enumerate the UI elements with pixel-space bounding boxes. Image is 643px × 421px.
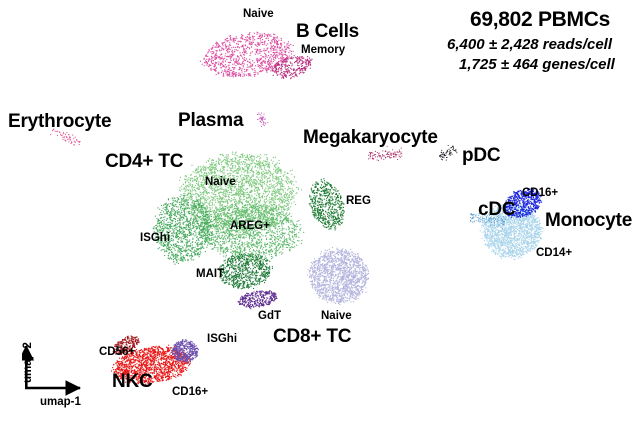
cluster-label-monocyte: Monocyte (545, 211, 632, 230)
cluster-points-cd4-mait (218, 253, 273, 289)
cluster-points-gdt (237, 290, 277, 309)
subcluster-label-naive: Naive (205, 177, 236, 189)
cluster-label-pdc: pDC (462, 146, 500, 165)
subcluster-label-isghi: ISGhi (207, 334, 237, 346)
subcluster-label-naive: Naive (321, 311, 352, 323)
subcluster-label-memory: Memory (301, 45, 345, 57)
subcluster-label-cd16: CD16+ (522, 188, 558, 200)
genes-per-cell-stat: 1,725 ± 464 genes/cell (459, 56, 615, 74)
cluster-label-plasma: Plasma (178, 111, 243, 130)
cluster-label-megakaryocyte: Megakaryocyte (303, 128, 438, 147)
cluster-points-cd4-isghi (152, 193, 213, 265)
subcluster-label-gdt: GdT (258, 311, 281, 323)
subcluster-label-mait: MAIT (196, 269, 224, 281)
cluster-label-erythrocyte: Erythrocyte (8, 112, 111, 131)
cluster-points-plasma (257, 112, 269, 127)
subcluster-label-areg: AREG+ (230, 221, 270, 233)
reads-per-cell-stat: 6,400 ± 2,428 reads/cell (447, 36, 612, 54)
subcluster-label-isghi: ISGhi (140, 233, 170, 245)
cluster-label-cd4-tc: CD4+ TC (105, 152, 183, 171)
axis-label-x: umap-1 (40, 396, 81, 408)
cell-count-title: 69,802 PBMCs (470, 8, 610, 33)
cluster-points-pdc (439, 145, 457, 161)
axis-label-y: umap-2 (22, 342, 34, 383)
subcluster-label-naive: Naive (243, 9, 274, 21)
cluster-points-b-memory (272, 56, 313, 79)
umap-figure: 69,802 PBMCs 6,400 ± 2,428 reads/cell 1,… (0, 0, 643, 421)
cluster-label-nkc: NKC (112, 372, 153, 391)
subcluster-label-reg: REG (346, 196, 371, 208)
cluster-points-megakaryocyte (368, 146, 403, 161)
cluster-label-b-cells: B Cells (296, 22, 359, 41)
cluster-points-cd4-reg (309, 178, 345, 230)
subcluster-label-cd14: CD14+ (536, 248, 572, 260)
cluster-label-cdc: cDC (478, 200, 515, 219)
cluster-label-cd8-tc: CD8+ TC (273, 327, 351, 346)
cluster-points-cd8-naive (307, 247, 369, 305)
subcluster-label-cd16: CD16+ (172, 387, 208, 399)
subcluster-label-cd56: CD56+ (99, 347, 135, 359)
